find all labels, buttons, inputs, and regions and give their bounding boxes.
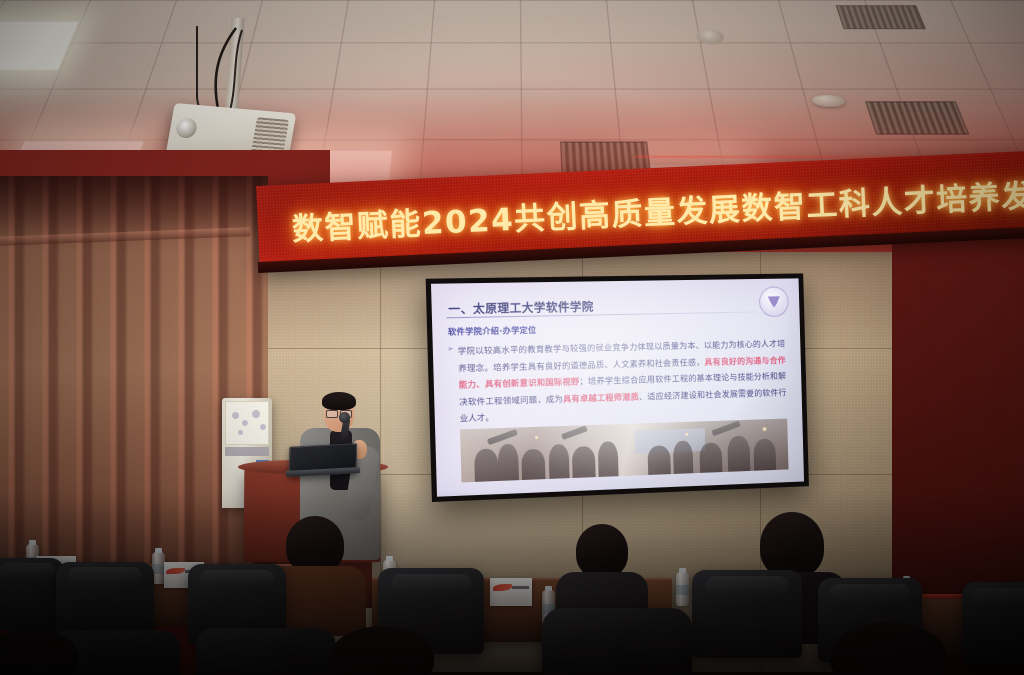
floral-motif <box>232 412 239 419</box>
ac-decorative-panel <box>225 401 269 445</box>
slide-photo-graduation <box>460 419 789 483</box>
ac-display-band <box>225 447 269 456</box>
university-seal-logo <box>759 286 789 317</box>
tent-logo-icon <box>166 568 184 575</box>
water-bottle <box>676 572 689 606</box>
bottle-cap <box>679 568 686 573</box>
seal-emblem-icon <box>768 296 781 308</box>
audience-head <box>576 524 628 578</box>
chair-highlight <box>68 567 142 584</box>
chair-highlight <box>972 588 1024 606</box>
chair-highlight <box>0 563 55 579</box>
audience-head <box>760 512 824 578</box>
bottle-cap <box>29 540 36 545</box>
chair-highlight <box>705 576 789 595</box>
slide-body-text: 学院以较高水平的教育教学与较强的就业竞争力体现以质量为本、以能力为核心的人才培养… <box>458 335 788 427</box>
floral-motif <box>260 424 266 430</box>
microphone-head-icon <box>339 412 350 423</box>
bottle-label <box>676 585 689 595</box>
speaker-hair <box>322 392 356 410</box>
bottle-cap <box>545 586 552 591</box>
slide-subtitle: 软件学院介绍·办学定位 <box>448 325 537 338</box>
conference-chair <box>56 562 154 640</box>
chair-highlight <box>830 584 909 602</box>
photo-projection-wash <box>460 419 789 483</box>
eyeglasses-icon <box>326 410 338 418</box>
conference-room-photo: 数智赋能2024共创高质量发展数智工科人才培养发展论坛 一、太原理工大学软件学院… <box>0 0 1024 675</box>
bottle-cap <box>155 548 162 553</box>
name-tent-card <box>490 578 532 606</box>
conference-chair <box>196 628 336 675</box>
conference-chair <box>962 582 1024 664</box>
floral-motif <box>252 410 260 418</box>
conference-chair <box>692 570 802 658</box>
floral-motif <box>238 430 243 435</box>
ceiling-air-vent <box>836 5 926 29</box>
chair-highlight <box>200 570 274 588</box>
floral-motif <box>242 420 248 426</box>
bottle-cap <box>386 556 393 561</box>
conference-chair <box>542 608 692 675</box>
conference-chair <box>0 558 64 630</box>
tent-name-text <box>512 586 529 589</box>
bullet-icon: ➢ <box>447 345 453 353</box>
body-highlight-2: 具有卓越工程师潜质 <box>563 391 639 403</box>
projector-lens <box>175 117 198 139</box>
tent-logo-icon <box>493 584 512 591</box>
chair-highlight <box>391 574 472 593</box>
presentation-slide: 一、太原理工大学软件学院 软件学院介绍·办学定位 ➢ 学院以较高水平的教育教学与… <box>431 278 804 496</box>
projection-screen: 一、太原理工大学软件学院 软件学院介绍·办学定位 ➢ 学院以较高水平的教育教学与… <box>426 273 809 502</box>
